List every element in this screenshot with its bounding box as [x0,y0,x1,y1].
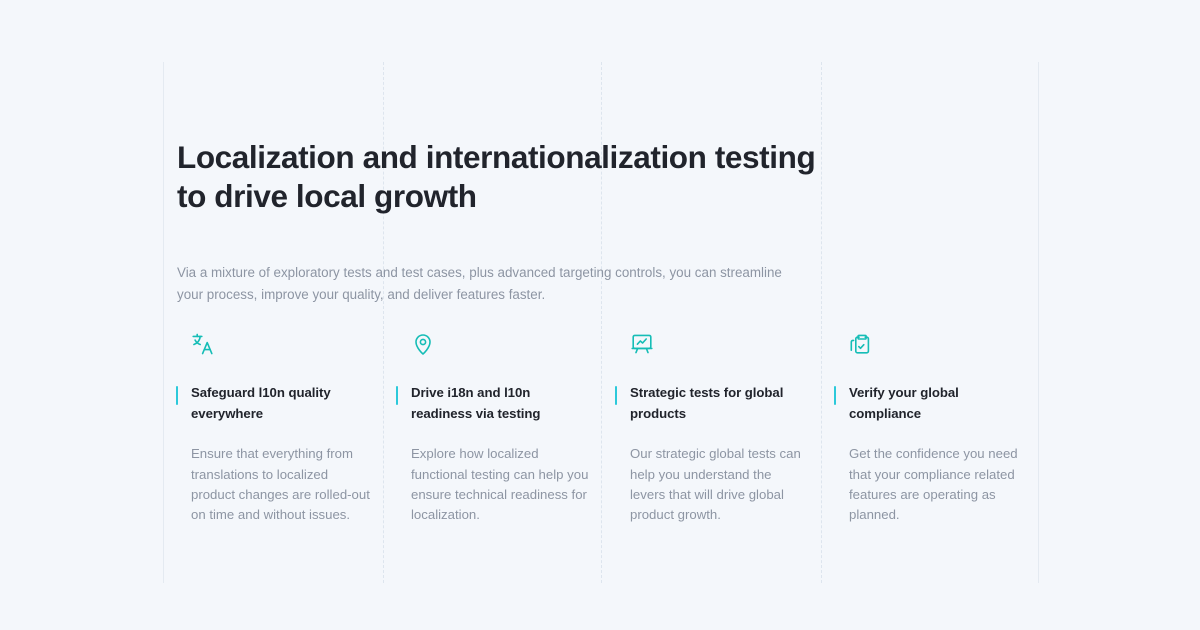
translate-icon [191,332,370,356]
feature-heading: Safeguard l10n quality everywhere [191,383,370,424]
feature-card-1: Safeguard l10n quality everywhere Ensure… [177,332,396,526]
accent-bar [176,386,178,405]
feature-heading-row: Drive i18n and l10n readiness via testin… [411,383,589,424]
content-area: Localization and internationalization te… [177,62,1037,305]
feature-body: Explore how localized functional testing… [411,444,589,526]
feature-heading: Drive i18n and l10n readiness via testin… [411,383,589,424]
accent-bar [615,386,617,405]
feature-list: Safeguard l10n quality everywhere Ensure… [177,332,1053,526]
feature-heading: Strategic tests for global products [630,383,808,424]
feature-body: Get the confidence you need that your co… [849,444,1027,526]
clipboard-check-icon [849,332,1027,356]
feature-card-4: Verify your global compliance Get the co… [834,332,1053,526]
map-pin-icon [411,332,589,356]
feature-heading: Verify your global compliance [849,383,1027,424]
page-title: Localization and internationalization te… [177,138,817,216]
feature-body: Our strategic global tests can help you … [630,444,808,526]
presentation-chart-icon [630,332,808,356]
page-subtitle: Via a mixture of exploratory tests and t… [177,262,809,305]
accent-bar [396,386,398,405]
feature-card-2: Drive i18n and l10n readiness via testin… [396,332,615,526]
feature-heading-row: Strategic tests for global products [630,383,808,424]
feature-heading-row: Verify your global compliance [849,383,1027,424]
feature-body: Ensure that everything from translations… [191,444,370,526]
feature-card-3: Strategic tests for global products Our … [615,332,834,526]
accent-bar [834,386,836,405]
feature-heading-row: Safeguard l10n quality everywhere [191,383,370,424]
page-root: Localization and internationalization te… [0,0,1200,630]
